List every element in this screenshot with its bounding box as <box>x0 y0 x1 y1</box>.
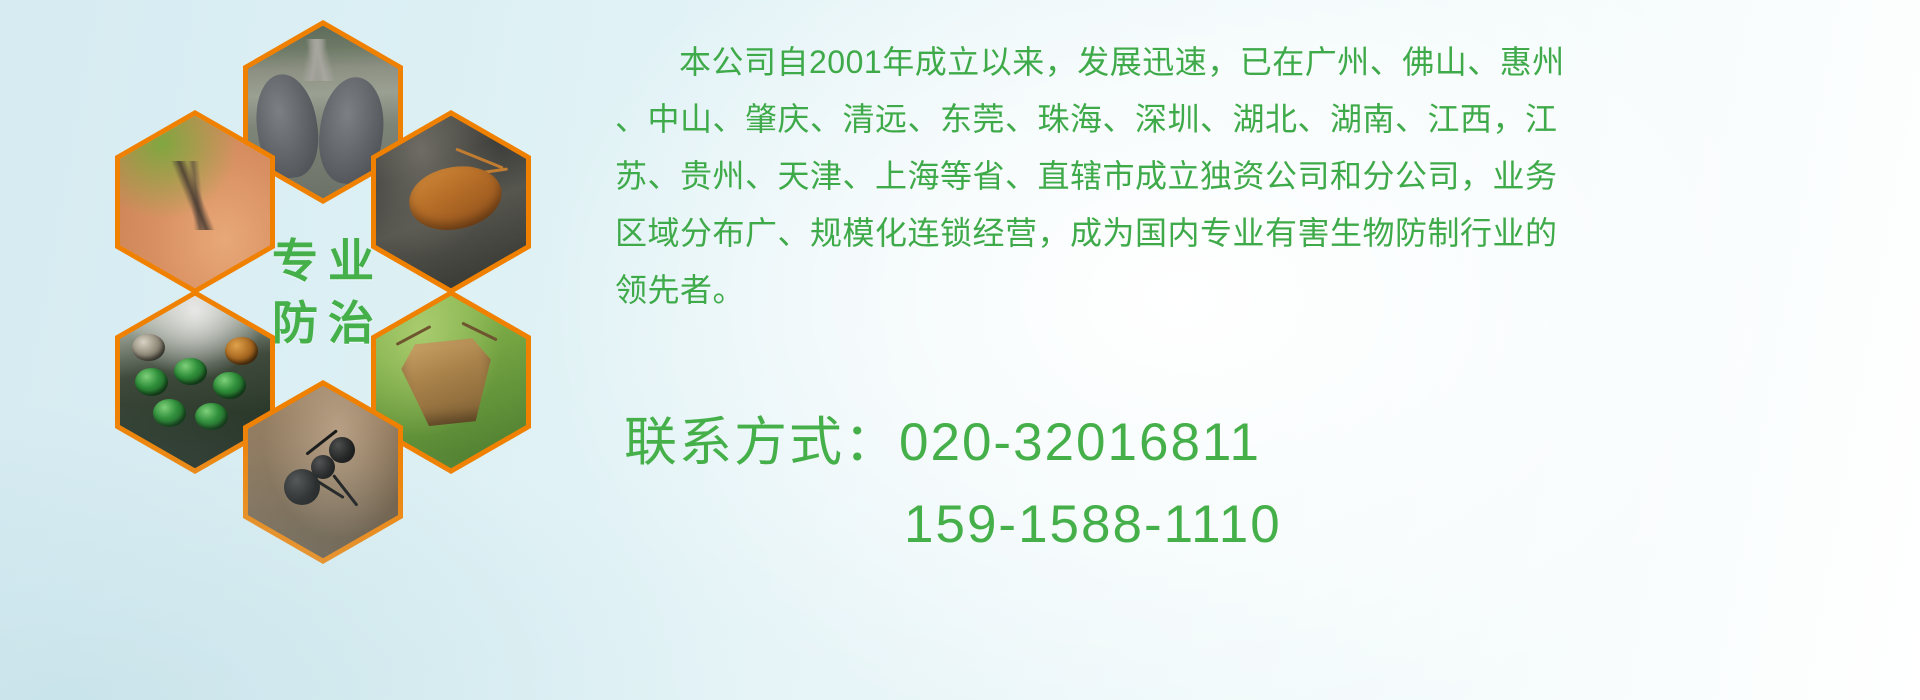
fly-6 <box>225 337 258 365</box>
fly-7 <box>132 334 165 362</box>
fly-4 <box>153 399 186 427</box>
stinkbug-body <box>399 336 497 428</box>
fly-3 <box>213 372 246 400</box>
contact-block: 联系方式：020-32016811 159-1588-1110 <box>624 400 1824 555</box>
company-description: 本公司自2001年成立以来，发展迅速，已在广州、佛山、惠州 、中山、肇庆、清远、… <box>615 34 1895 319</box>
stinkbug-antenna-right <box>461 322 497 342</box>
description-line-3: 苏、贵州、天津、上海等省、直辖市成立独资公司和分公司，业务 <box>615 148 1895 205</box>
fly-5 <box>195 403 228 431</box>
stinkbug-antenna-left <box>396 325 432 346</box>
mosquito-body-detail <box>150 161 243 230</box>
slogan-line-2: 防治 <box>262 292 384 354</box>
fly-2 <box>174 358 207 386</box>
slogan-line-1: 专业 <box>262 230 384 292</box>
ant-photo <box>248 386 398 559</box>
description-line-5: 领先者。 <box>615 262 1895 319</box>
contact-phone-mobile[interactable]: 159-1588-1110 <box>624 494 1824 555</box>
description-line-4: 区域分布广、规模化连锁经营，成为国内专业有害生物防制行业的 <box>615 205 1895 262</box>
promotional-banner: 专业 防治 <box>0 0 1920 700</box>
honeycomb-photo-cluster: 专业 防治 <box>95 10 615 590</box>
description-line-2: 、中山、肇庆、清远、东莞、珠海、深圳、湖北、湖南、江西，江 <box>615 91 1895 148</box>
fly-1 <box>135 368 168 396</box>
contact-phone-landline[interactable]: 联系方式：020-32016811 <box>624 400 1824 476</box>
ant-head <box>329 437 355 463</box>
description-line-1: 本公司自2001年成立以来，发展迅速，已在广州、佛山、惠州 <box>615 34 1895 91</box>
